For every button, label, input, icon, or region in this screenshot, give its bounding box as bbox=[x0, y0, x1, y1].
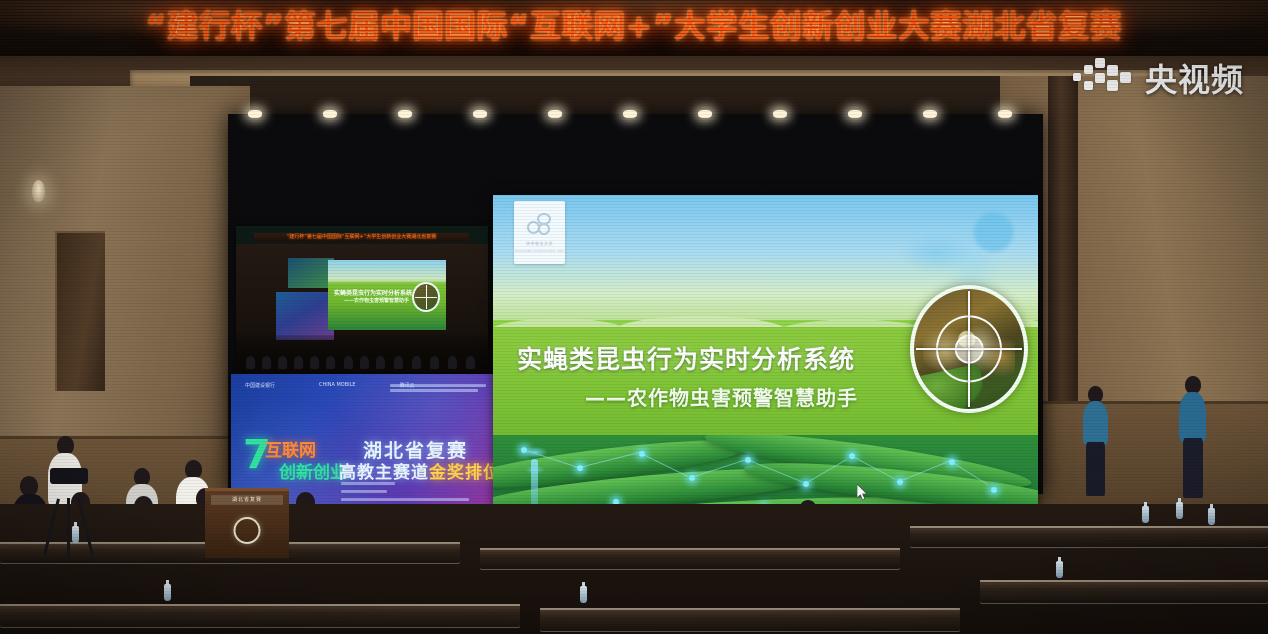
organizer-lines bbox=[390, 384, 486, 394]
mini-led-banner-text: “建行杯”第七届中国国际“互联网+”大学生创新创业大赛湖北省复赛 bbox=[254, 233, 469, 242]
institution-name: 华中农业大学 bbox=[526, 241, 553, 247]
slide-title: 实蝇类昆虫行为实时分析系统 bbox=[517, 345, 872, 375]
water-bottle bbox=[1056, 561, 1063, 578]
institution-name-en: HUAZHONG AGRICULTURAL UNIV bbox=[515, 249, 565, 253]
speaker-podium: 湖北省复赛 bbox=[205, 488, 289, 558]
university-emblem bbox=[234, 517, 261, 544]
sponsor-logo-2: CHINA MOBILE bbox=[319, 382, 356, 389]
brand-innovation: 创新创业 bbox=[279, 464, 347, 483]
standing-staff bbox=[1178, 376, 1208, 498]
wall-sconce-light bbox=[32, 180, 45, 202]
brand-internet-plus: 互联网 bbox=[265, 442, 316, 461]
livestream-frame: “建行杯”第七届中国国际“互联网+”大学生创新创业大赛湖北省复赛 bbox=[0, 0, 1268, 634]
water-bottle bbox=[1208, 508, 1215, 525]
side-door bbox=[55, 231, 105, 391]
institution-logo-card: 华中农业大学 HUAZHONG AGRICULTURAL UNIV bbox=[514, 201, 565, 264]
slide-decor-blue bbox=[900, 203, 1030, 289]
camera-tripod bbox=[46, 468, 92, 556]
audience-desk bbox=[980, 580, 1268, 604]
institution-logo-icon bbox=[526, 212, 553, 237]
promo-subheading-white: 高教主赛道 bbox=[339, 463, 429, 483]
water-bottle bbox=[164, 584, 171, 601]
main-presentation-screen[interactable]: 华中农业大学 HUAZHONG AGRICULTURAL UNIV 实蝇类昆虫行… bbox=[493, 195, 1038, 543]
cctv-video-blocks-logo-icon bbox=[1073, 58, 1135, 98]
water-bottle bbox=[1176, 502, 1183, 519]
water-bottle bbox=[1142, 506, 1149, 523]
mini-slide-subtitle: ——农作物虫害预警智慧助手 bbox=[344, 297, 409, 304]
mouse-cursor-arrow bbox=[857, 484, 868, 501]
stage-top-light-bar bbox=[228, 110, 1043, 120]
channel-watermark: 央视频 bbox=[1073, 52, 1244, 104]
mini-screen-left bbox=[276, 292, 334, 340]
audience-desk bbox=[540, 608, 960, 632]
mini-hall-view: 实蝇类昆虫行为实时分析系统 ——农作物虫害预警智慧助手 bbox=[236, 244, 488, 371]
sponsor-logo-1: 中国建设银行 bbox=[245, 382, 275, 389]
slide-subtitle: ——农作物虫害预警智慧助手 bbox=[585, 385, 915, 411]
mini-screen-main: 实蝇类昆虫行为实时分析系统 ——农作物虫害预警智慧助手 bbox=[328, 260, 446, 330]
conference-hall: “建行杯”第七届中国国际“互联网+”大学生创新创业大赛湖北省复赛 实蝇类昆虫行为… bbox=[0, 56, 1268, 634]
mini-crosshair-icon bbox=[412, 282, 440, 312]
mini-slide-title: 实蝇类昆虫行为实时分析系统 bbox=[334, 288, 412, 297]
video-camera bbox=[50, 468, 88, 484]
promo-subheading: 高教主赛道金奖排位赛 bbox=[339, 458, 494, 483]
venue-led-banner: “建行杯”第七届中国国际“互联网+”大学生创新创业大赛湖北省复赛 bbox=[0, 0, 1268, 56]
water-bottle bbox=[580, 586, 587, 603]
promo-subheading-gold: 金奖排位赛 bbox=[429, 463, 494, 483]
podium-nameplate: 湖北省复赛 bbox=[211, 495, 283, 505]
channel-watermark-text: 央视频 bbox=[1145, 55, 1244, 101]
audience-desk bbox=[910, 526, 1268, 548]
mini-audience bbox=[236, 335, 488, 371]
venue-banner-text: “建行杯”第七届中国国际“互联网+”大学生创新创业大赛湖北省复赛 bbox=[0, 4, 1268, 50]
audience-desk bbox=[0, 604, 520, 628]
standing-staff bbox=[1082, 386, 1110, 496]
crosshair-target-icon bbox=[910, 285, 1028, 413]
audience-desk bbox=[480, 548, 900, 570]
secondary-screen-upper-left[interactable]: “建行杯”第七届中国国际“互联网+”大学生创新创业大赛湖北省复赛 实蝇类昆虫行为… bbox=[236, 226, 488, 371]
reticle-crosshair-horizontal bbox=[916, 348, 1022, 350]
